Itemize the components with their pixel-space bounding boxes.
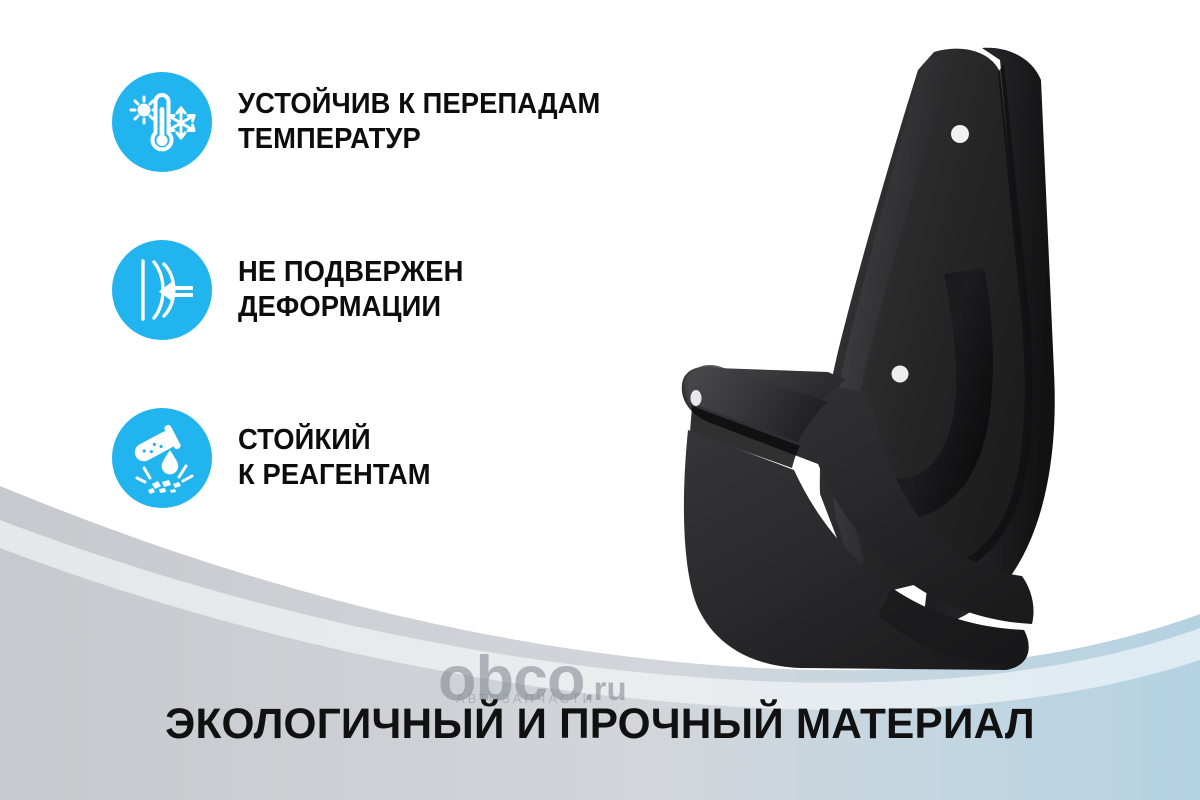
feature-list: УСТОЙЧИВ К ПЕРЕПАДАМ ТЕМПЕРАТУР bbox=[112, 72, 732, 508]
feature-label: НЕ ПОДВЕРЖЕН ДЕФОРМАЦИИ bbox=[238, 255, 463, 325]
mounting-hole bbox=[892, 366, 909, 383]
feature-label: СТОЙКИЙ К РЕАГЕНТАМ bbox=[238, 423, 431, 493]
feature-item-deformation: НЕ ПОДВЕРЖЕН ДЕФОРМАЦИИ bbox=[112, 240, 732, 340]
headline: ЭКОЛОГИЧНЫЙ И ПРОЧНЫЙ МАТЕРИАЛ bbox=[9, 700, 1191, 749]
feature-label: УСТОЙЧИВ К ПЕРЕПАДАМ ТЕМПЕРАТУР bbox=[238, 87, 600, 157]
feature-item-temperature: УСТОЙЧИВ К ПЕРЕПАДАМ ТЕМПЕРАТУР bbox=[112, 72, 732, 172]
thermometer-sun-snowflake-icon bbox=[112, 72, 212, 172]
deformation-resistance-icon bbox=[112, 240, 212, 340]
mounting-hole bbox=[951, 125, 969, 143]
chemical-reagent-resistance-icon bbox=[112, 408, 212, 508]
product-feature-poster: УСТОЙЧИВ К ПЕРЕПАДАМ ТЕМПЕРАТУР bbox=[0, 0, 1200, 800]
feature-item-reagents: СТОЙКИЙ К РЕАГЕНТАМ bbox=[112, 408, 732, 508]
